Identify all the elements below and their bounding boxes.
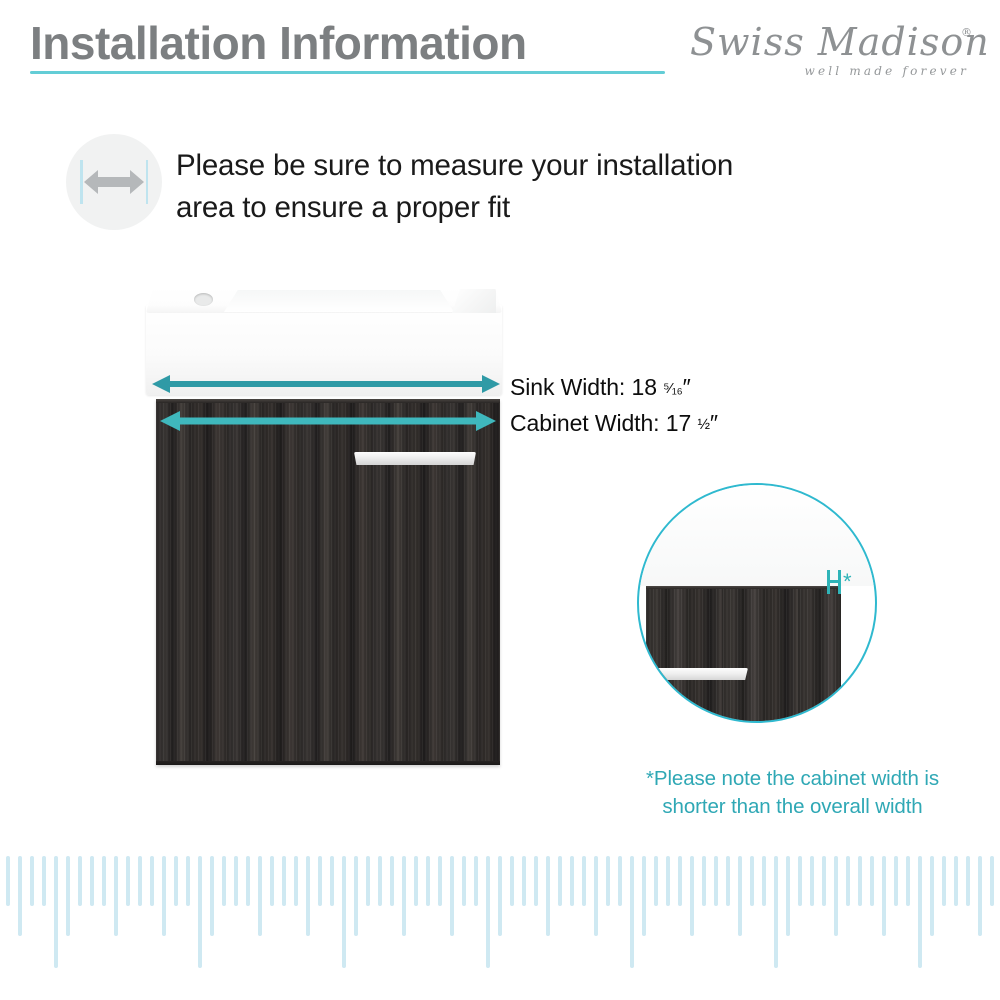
ruler-tick: [102, 856, 106, 906]
ruler-tick: [162, 856, 166, 936]
ruler-tick: [510, 856, 514, 906]
ruler-tick: [522, 856, 526, 906]
ruler-tick: [594, 856, 598, 936]
ruler-tick: [306, 856, 310, 936]
ruler-tick: [750, 856, 754, 906]
sink-inner-basin: [224, 290, 454, 312]
brand-name-text: Swiss Madison: [690, 20, 990, 64]
ruler-tick: [282, 856, 286, 906]
cabinet-top-edge: [156, 399, 500, 403]
ruler-tick: [738, 856, 742, 936]
ruler-tick: [942, 856, 946, 906]
ruler-tick: [354, 856, 358, 936]
ruler-tick: [330, 856, 334, 906]
ruler-tick: [30, 856, 34, 906]
measure-arrow-icon: [66, 134, 162, 230]
ruler-tick: [66, 856, 70, 936]
ruler-tick: [918, 856, 922, 968]
cabinet-width-label: Cabinet Width: 17 ½″: [510, 410, 718, 437]
ruler-tick: [858, 856, 862, 906]
brand-tagline: well made forever: [804, 64, 969, 78]
ruler-tick: [870, 856, 874, 906]
ruler-tick: [726, 856, 730, 906]
cabinet-width-fraction: ½: [697, 416, 709, 433]
ruler-tick: [342, 856, 346, 968]
sink-width-prefix: Sink Width:: [510, 374, 632, 400]
ruler-tick: [930, 856, 934, 936]
faucet-hole: [194, 293, 213, 306]
sink-basin: [146, 287, 502, 395]
cabinet-bottom-edge: [156, 761, 500, 765]
brand-logo: Swiss Madison® well made forever: [690, 20, 975, 80]
ruler-tick: [774, 856, 778, 968]
ruler-tick: [42, 856, 46, 906]
ruler-tick: [654, 856, 658, 906]
ruler-tick: [834, 856, 838, 936]
registered-trademark-icon: ®: [961, 26, 973, 39]
ruler-tick: [798, 856, 802, 906]
ruler-tick: [426, 856, 430, 906]
cabinet-door: [156, 399, 500, 765]
ruler-tick: [906, 856, 910, 906]
brand-name: Swiss Madison®: [690, 20, 975, 64]
ruler-tick: [570, 856, 574, 906]
ruler-tick: [666, 856, 670, 906]
sink-rim: [146, 287, 502, 313]
ruler-tick: [474, 856, 478, 906]
ruler-tick: [462, 856, 466, 906]
sink-body: [146, 305, 502, 395]
ruler-tick: [702, 856, 706, 906]
ruler-tick: [558, 856, 562, 906]
ruler-tick: [498, 856, 502, 936]
ruler-tick: [486, 856, 490, 968]
ruler-tick: [606, 856, 610, 906]
page-title: Installation Information: [30, 16, 527, 70]
ruler-tick: [210, 856, 214, 936]
ruler-tick: [582, 856, 586, 906]
ruler-tick: [114, 856, 118, 936]
ruler-tick: [690, 856, 694, 936]
sink-width-arrow: [148, 371, 504, 397]
ruler-tick: [786, 856, 790, 936]
installation-information-page: Installation Information Swiss Madison® …: [0, 0, 1000, 1000]
ruler-tick: [546, 856, 550, 936]
cabinet-handle: [354, 452, 476, 465]
detail-cabinet-panel: [646, 586, 841, 723]
ruler-tick: [618, 856, 622, 906]
ruler-tick: [138, 856, 142, 906]
measure-instruction-text: Please be sure to measure your installat…: [176, 145, 756, 229]
ruler-tick: [822, 856, 826, 906]
detail-inset-circle: [637, 483, 877, 723]
ruler-tick: [966, 856, 970, 906]
ruler-tick: [378, 856, 382, 906]
ruler-tick: [18, 856, 22, 936]
ruler-decoration: [0, 856, 1000, 986]
ruler-tick: [246, 856, 250, 906]
sink-width-unit: ″: [683, 374, 691, 400]
ruler-tick: [810, 856, 814, 906]
footnote-note: *Please note the cabinet width is shorte…: [600, 765, 985, 820]
ruler-tick: [990, 856, 994, 906]
cabinet-width-unit: ″: [710, 410, 718, 436]
ruler-tick: [534, 856, 538, 906]
ruler-tick: [270, 856, 274, 906]
ruler-tick: [882, 856, 886, 936]
cabinet-width-arrow: [156, 407, 500, 435]
double-arrow-icon: [82, 166, 146, 198]
ruler-tick: [402, 856, 406, 936]
ruler-tick: [174, 856, 178, 906]
ruler-tick: [438, 856, 442, 906]
ruler-tick: [198, 856, 202, 968]
ruler-tick: [78, 856, 82, 906]
detail-width-marker: *: [826, 569, 852, 595]
cabinet-width-prefix: Cabinet Width:: [510, 410, 666, 436]
ruler-tick: [450, 856, 454, 936]
ruler-tick: [894, 856, 898, 906]
sink-width-fraction: ⁵⁄₁₆: [663, 380, 682, 397]
sink-width-value: 18: [632, 374, 657, 400]
ruler-tick: [126, 856, 130, 906]
sink-right-well: [452, 289, 496, 313]
ruler-tick: [150, 856, 154, 906]
ruler-tick: [294, 856, 298, 906]
ruler-tick: [318, 856, 322, 906]
ruler-tick: [762, 856, 766, 906]
ruler-tick: [366, 856, 370, 906]
ruler-tick: [390, 856, 394, 906]
detail-panel-top-edge: [646, 586, 841, 589]
ruler-tick: [954, 856, 958, 906]
ruler-tick: [234, 856, 238, 906]
sink-width-label: Sink Width: 18 ⁵⁄₁₆″: [510, 374, 691, 401]
ruler-tick: [978, 856, 982, 936]
ruler-tick: [630, 856, 634, 968]
width-bracket-icon: [826, 569, 842, 595]
ruler-tick: [846, 856, 850, 906]
detail-asterisk: *: [843, 571, 852, 593]
footnote-line-1: *Please note the cabinet width is: [646, 767, 939, 790]
ruler-tick: [186, 856, 190, 906]
ruler-tick: [678, 856, 682, 906]
title-underline: [30, 71, 665, 74]
ruler-tick: [6, 856, 10, 906]
ruler-tick: [642, 856, 646, 936]
ruler-tick: [258, 856, 262, 936]
ruler-tick: [90, 856, 94, 906]
cabinet-width-value: 17: [666, 410, 691, 436]
ruler-tick: [54, 856, 58, 968]
ruler-tick: [222, 856, 226, 906]
footnote-line-2: shorter than the overall width: [662, 795, 922, 818]
detail-cabinet-handle: [653, 668, 748, 680]
ruler-tick: [414, 856, 418, 906]
ruler-tick: [714, 856, 718, 906]
